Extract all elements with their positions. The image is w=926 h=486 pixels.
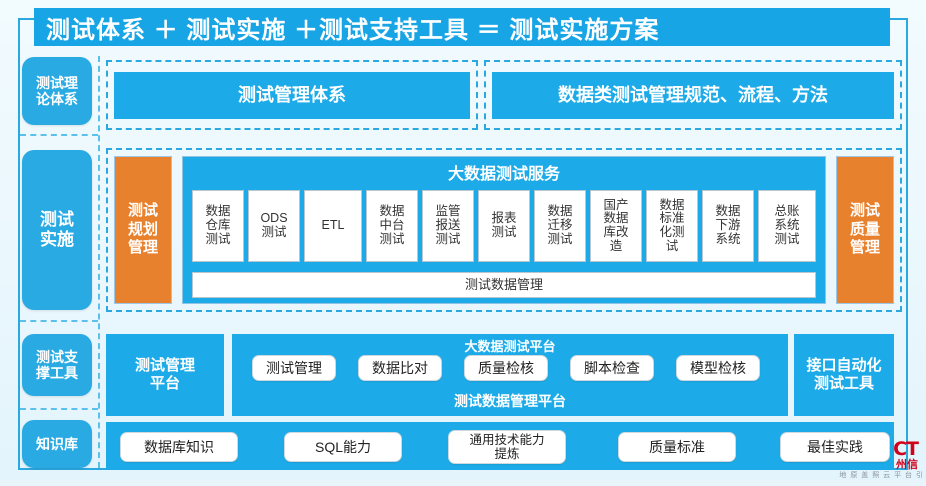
sidebar-item-execution[interactable]: 测试 实施 — [22, 150, 92, 310]
platform-footer-label: 测试数据管理平台 — [454, 393, 566, 410]
tool-chip[interactable]: 质量检核 — [464, 355, 548, 381]
service-cell[interactable]: 国产 数据 库改 造 — [590, 190, 642, 262]
sidebar-item-label: 测试理 论体系 — [36, 75, 78, 107]
execution-footer-test-data-management[interactable]: 测试数据管理 — [192, 272, 816, 298]
tool-chip[interactable]: 模型检核 — [676, 355, 760, 381]
row-separator-1 — [20, 134, 98, 136]
box-label: 数据类测试管理规范、流程、方法 — [558, 85, 828, 107]
platform-label: 测试管理 平台 — [135, 357, 195, 393]
service-cell-label: ODS 测试 — [260, 212, 287, 240]
tools-platform-api-automation[interactable]: 接口自动化 测试工具 — [794, 334, 894, 416]
knowledge-chip-label: 最佳实践 — [807, 439, 863, 455]
service-cell[interactable]: 数据 迁移 测试 — [534, 190, 586, 262]
knowledge-chip-label: SQL能力 — [315, 439, 371, 455]
service-cell[interactable]: ODS 测试 — [248, 190, 300, 262]
knowledge-chip[interactable]: 质量标准 — [618, 432, 736, 462]
execution-pillar-quality[interactable]: 测试 质量 管理 — [836, 156, 894, 304]
tool-chip[interactable]: 测试管理 — [252, 355, 336, 381]
row-separator-3 — [20, 408, 98, 410]
knowledge-chip-label: 通用技术能力 提炼 — [469, 433, 544, 462]
service-cell-label: 国产 数据 库改 造 — [603, 199, 628, 254]
tool-chip-label: 质量检核 — [478, 360, 534, 376]
service-cell[interactable]: 总账 系统 测试 — [758, 190, 816, 262]
tools-platform-test-management[interactable]: 测试管理 平台 — [106, 334, 224, 416]
pillar-label: 测试 规划 管理 — [128, 202, 158, 258]
service-cell-label: 监管 报送 测试 — [435, 205, 460, 246]
footer-label: 测试数据管理 — [465, 278, 543, 292]
bigdata-platform-title: 大数据测试平台 — [232, 336, 788, 354]
pillar-label: 测试 质量 管理 — [850, 202, 880, 258]
sidebar-item-theory[interactable]: 测试理 论体系 — [22, 57, 92, 125]
service-cell-label: 数据 迁移 测试 — [547, 205, 572, 246]
platform-footer-test-data-management-platform: 测试数据管理平台 — [234, 388, 786, 414]
knowledge-chip[interactable]: 数据库知识 — [120, 432, 238, 462]
bigdata-service-title: 大数据测试服务 — [182, 160, 826, 184]
bottom-strip — [0, 480, 926, 486]
theory-box-data-standards[interactable]: 数据类测试管理规范、流程、方法 — [492, 72, 894, 119]
execution-pillar-planning[interactable]: 测试 规划 管理 — [114, 156, 172, 304]
tool-chip-label: 模型检核 — [690, 360, 746, 376]
theory-box-management-system[interactable]: 测试管理体系 — [114, 72, 470, 119]
row-separator-2 — [20, 320, 98, 322]
page-title: 测试体系 ＋ 测试实施 ＋测试支持工具 ＝ 测试实施方案 — [34, 8, 890, 46]
service-cell-label: 数据 下游 系统 — [715, 205, 740, 246]
sidebar-item-knowledge-base[interactable]: 知识库 — [22, 420, 92, 468]
service-cell-label: 数据 中台 测试 — [379, 205, 404, 246]
service-cell[interactable]: 监管 报送 测试 — [422, 190, 474, 262]
service-cell[interactable]: ETL — [304, 190, 362, 262]
slide-canvas: 测试体系 ＋ 测试实施 ＋测试支持工具 ＝ 测试实施方案 测试理 论体系 测试 … — [0, 0, 926, 486]
knowledge-chip[interactable]: 最佳实践 — [780, 432, 890, 462]
service-cell[interactable]: 报表 测试 — [478, 190, 530, 262]
knowledge-chip-label: 质量标准 — [649, 439, 705, 455]
service-cell[interactable]: 数据 标准 化测 试 — [646, 190, 698, 262]
knowledge-chip[interactable]: 通用技术能力 提炼 — [448, 430, 566, 464]
tool-chip-label: 脚本检查 — [584, 360, 640, 376]
service-cell-label: 数据 标准 化测 试 — [659, 199, 684, 254]
sidebar-item-label: 测试支 撑工具 — [36, 349, 78, 381]
sidebar-item-label: 知识库 — [36, 436, 78, 452]
platform-label: 接口自动化 测试工具 — [806, 357, 881, 393]
box-label: 测试管理体系 — [238, 85, 346, 107]
watermark-caption: 地 原 盖 照 云 平 台 引 — [839, 470, 924, 480]
sidebar-item-support-tools[interactable]: 测试支 撑工具 — [22, 334, 92, 396]
tool-chip-label: 测试管理 — [266, 360, 322, 376]
tool-chip-label: 数据比对 — [372, 360, 428, 376]
knowledge-chip[interactable]: SQL能力 — [284, 432, 402, 462]
sidebar-item-label: 测试 实施 — [40, 210, 74, 249]
service-cell-label: ETL — [322, 219, 345, 233]
knowledge-chip-label: 数据库知识 — [144, 439, 214, 455]
service-cell[interactable]: 数据 中台 测试 — [366, 190, 418, 262]
service-cell[interactable]: 数据 仓库 测试 — [192, 190, 244, 262]
tool-chip[interactable]: 脚本检查 — [570, 355, 654, 381]
service-cell-label: 报表 测试 — [491, 212, 516, 240]
service-cell-label: 数据 仓库 测试 — [205, 205, 230, 246]
service-cell[interactable]: 数据 下游 系统 — [702, 190, 754, 262]
tool-chip[interactable]: 数据比对 — [358, 355, 442, 381]
service-cell-label: 总账 系统 测试 — [774, 205, 799, 246]
sidebar-divider — [98, 56, 100, 468]
